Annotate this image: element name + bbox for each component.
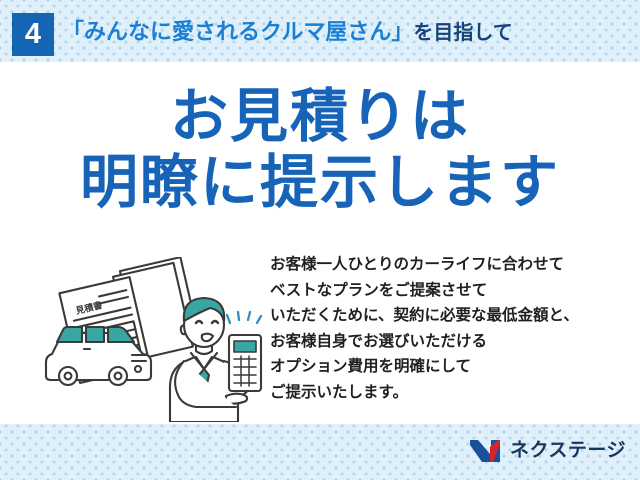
brand-name: ネクステージ	[510, 436, 626, 466]
headline-line-2: 明瞭に提示します	[0, 150, 640, 216]
illustration: 見積書	[24, 257, 274, 422]
calculator-icon	[229, 335, 261, 391]
header-title-quoted: 「みんなに愛されるクルマ屋さん」	[62, 19, 413, 44]
body-line: いただくために、契約に必要な最低金額と、	[270, 303, 630, 329]
header-band: 4 「みんなに愛されるクルマ屋さん」を目指して	[0, 0, 640, 62]
section-number-badge: 4	[12, 13, 54, 56]
header-title-tail: を目指して	[413, 22, 512, 44]
section-number: 4	[25, 20, 41, 49]
body-line: ご提示いたします。	[270, 380, 630, 406]
headline-line-1: お見積りは	[0, 84, 640, 150]
page-title: お見積りは 明瞭に提示します	[0, 84, 640, 216]
body-line: お客様一人ひとりのカーライフに合わせて	[270, 252, 630, 278]
content-card: お見積りは 明瞭に提示します お客様一人ひとりのカーライフに合わせて ベストなプ…	[0, 62, 640, 424]
header-title: 「みんなに愛されるクルマ屋さん」を目指して	[62, 15, 513, 50]
footer-band: ネクステージ	[0, 424, 640, 480]
body-line: お客様自身でお選びいただける	[270, 329, 630, 355]
logo-mark-icon	[469, 438, 503, 464]
brand-logo: ネクステージ	[469, 436, 626, 466]
body-line: ベストなプランをご提案させて	[270, 278, 630, 304]
body-line: オプション費用を明確にして	[270, 354, 630, 380]
body-copy: お客様一人ひとりのカーライフに合わせて ベストなプランをご提案させて いただくた…	[270, 252, 630, 405]
sparkle-icon	[227, 312, 261, 323]
illustration-svg: 見積書	[24, 257, 274, 422]
advertisement-page: 4 「みんなに愛されるクルマ屋さん」を目指して お見積りは 明瞭に提示します お…	[0, 0, 640, 480]
